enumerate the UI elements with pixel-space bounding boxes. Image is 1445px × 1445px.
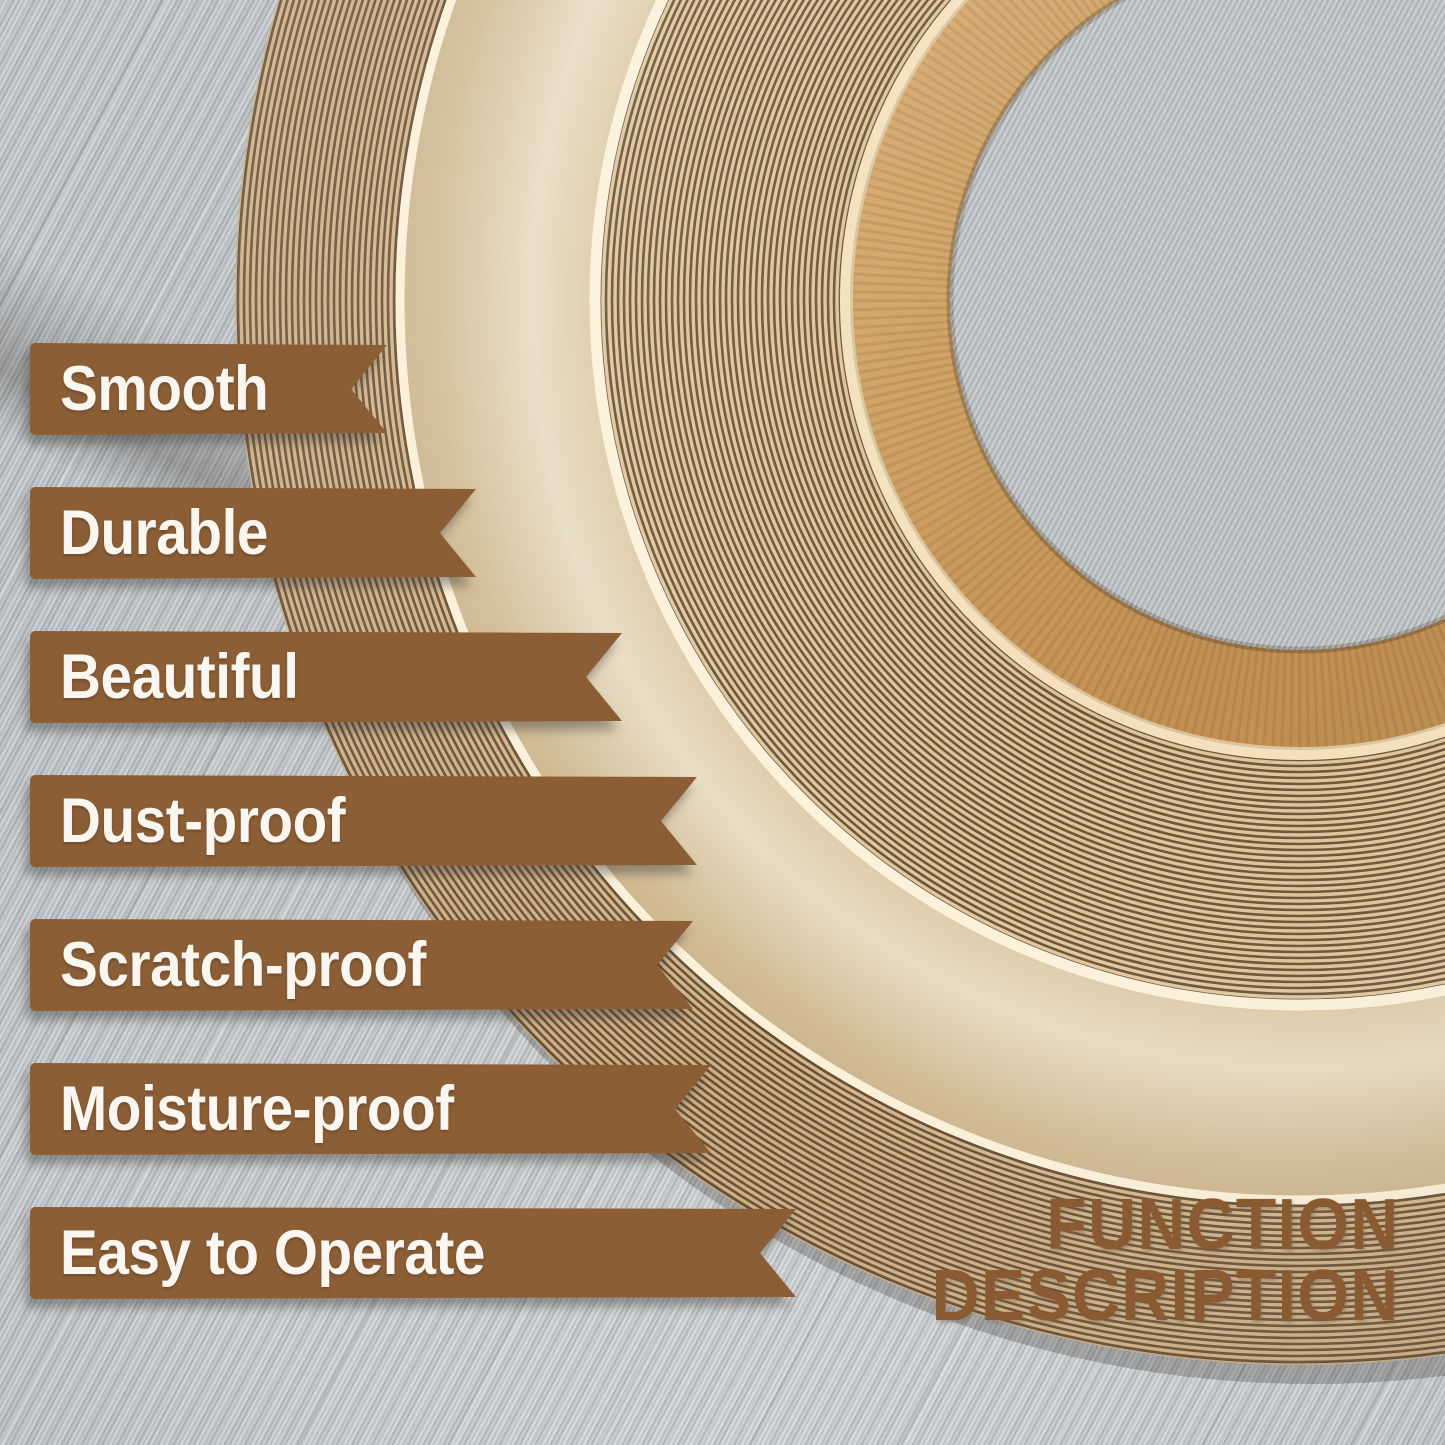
feature-label: Durable [60, 502, 268, 565]
product-marketing-image: Smooth Durable Beautiful Dust-proof Scra… [0, 0, 1445, 1445]
feature-label: Scratch-proof [60, 934, 426, 997]
feature-banner: Smooth [30, 343, 387, 435]
feature-banner: Easy to Operate [30, 1207, 796, 1299]
feature-banner: Scratch-proof [30, 919, 693, 1011]
headline-line-1: FUNCTION [1047, 1185, 1400, 1265]
feature-label: Moisture-proof [60, 1078, 454, 1141]
feature-banner: Dust-proof [30, 775, 697, 867]
feature-label: Dust-proof [60, 790, 345, 853]
feature-label: Easy to Operate [60, 1222, 485, 1285]
feature-banner: Durable [30, 487, 476, 579]
feature-banner: Beautiful [30, 631, 622, 723]
feature-label: Beautiful [60, 646, 299, 709]
feature-label: Smooth [60, 358, 268, 421]
feature-banner: Moisture-proof [30, 1063, 711, 1155]
headline-block: FUNCTION DESCRIPTION [932, 1190, 1400, 1333]
headline-line-2: DESCRIPTION [932, 1261, 1400, 1332]
